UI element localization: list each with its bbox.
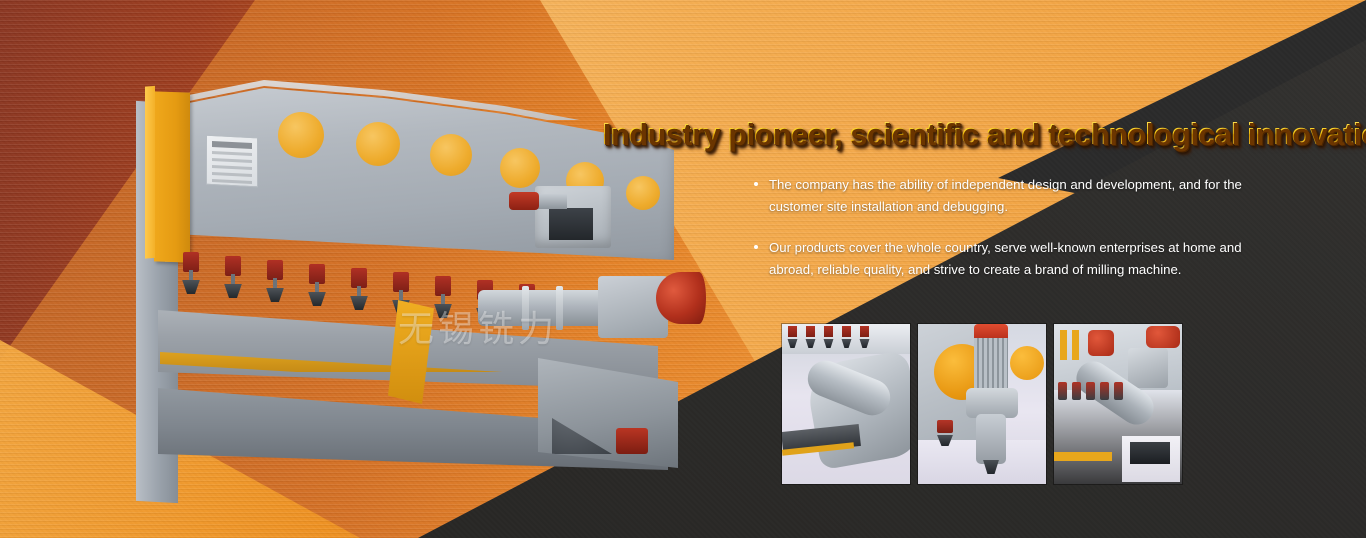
product-photo-milling-machine (118, 78, 678, 498)
list-item: Our products cover the whole country, se… (752, 237, 1252, 281)
thumb3-yellow-bar (1072, 330, 1079, 360)
bullet-dot-icon (754, 182, 758, 186)
thumb3-yellow-rail (1054, 452, 1112, 461)
machine-clamp (180, 252, 202, 302)
machine-decal-circle (278, 112, 324, 158)
thumb2-orange-disc-small (1010, 346, 1044, 380)
machine-nameplate (206, 135, 258, 188)
thumb1-clamp (840, 326, 853, 352)
thumb3-clamp-row (1058, 382, 1162, 404)
thumb2-motor-body (974, 338, 1008, 390)
machine-small-red-motor (616, 428, 648, 454)
machine-decal-circle (430, 134, 472, 176)
list-item-text: Our products cover the whole country, se… (769, 240, 1242, 277)
thumb3-yellow-bar (1060, 330, 1067, 360)
list-item: The company has the ability of independe… (752, 174, 1252, 218)
thumb1-clamp (822, 326, 835, 352)
thumb1-clamp (858, 326, 871, 352)
thumbnail-image-2[interactable] (918, 324, 1046, 484)
feature-bullet-list: The company has the ability of independe… (752, 174, 1252, 281)
machine-clamp (264, 260, 286, 310)
thumb2-spindle (976, 414, 1006, 464)
thumb3-red-cap (1088, 330, 1114, 356)
bullet-dot-icon (754, 245, 758, 249)
machine-decal-circle (356, 122, 400, 166)
page-title: Industry pioneer, scientific and technol… (602, 116, 1366, 152)
machine-clamp (348, 268, 370, 318)
list-item-text: The company has the ability of independe… (769, 177, 1242, 214)
machine-decal-circle (500, 148, 540, 188)
thumbnail-gallery (782, 324, 1182, 484)
thumb3-dark-slot (1130, 442, 1170, 464)
thumb2-clamp-foot (934, 420, 956, 448)
thumbnail-image-1[interactable] (782, 324, 910, 484)
machine-drive-motor (478, 266, 708, 356)
thumb1-clamp (786, 326, 799, 352)
thumb3-red-cap-right (1146, 326, 1180, 348)
thumbnail-image-3[interactable] (1054, 324, 1182, 484)
machine-yellow-panel (154, 91, 190, 262)
machine-clamp (432, 276, 454, 326)
machine-clamp (306, 264, 328, 314)
promo-banner: 无锡铣力 Industry pioneer, scientific and te… (0, 0, 1366, 538)
thumb1-clamp (804, 326, 817, 352)
machine-clamp (222, 256, 244, 306)
